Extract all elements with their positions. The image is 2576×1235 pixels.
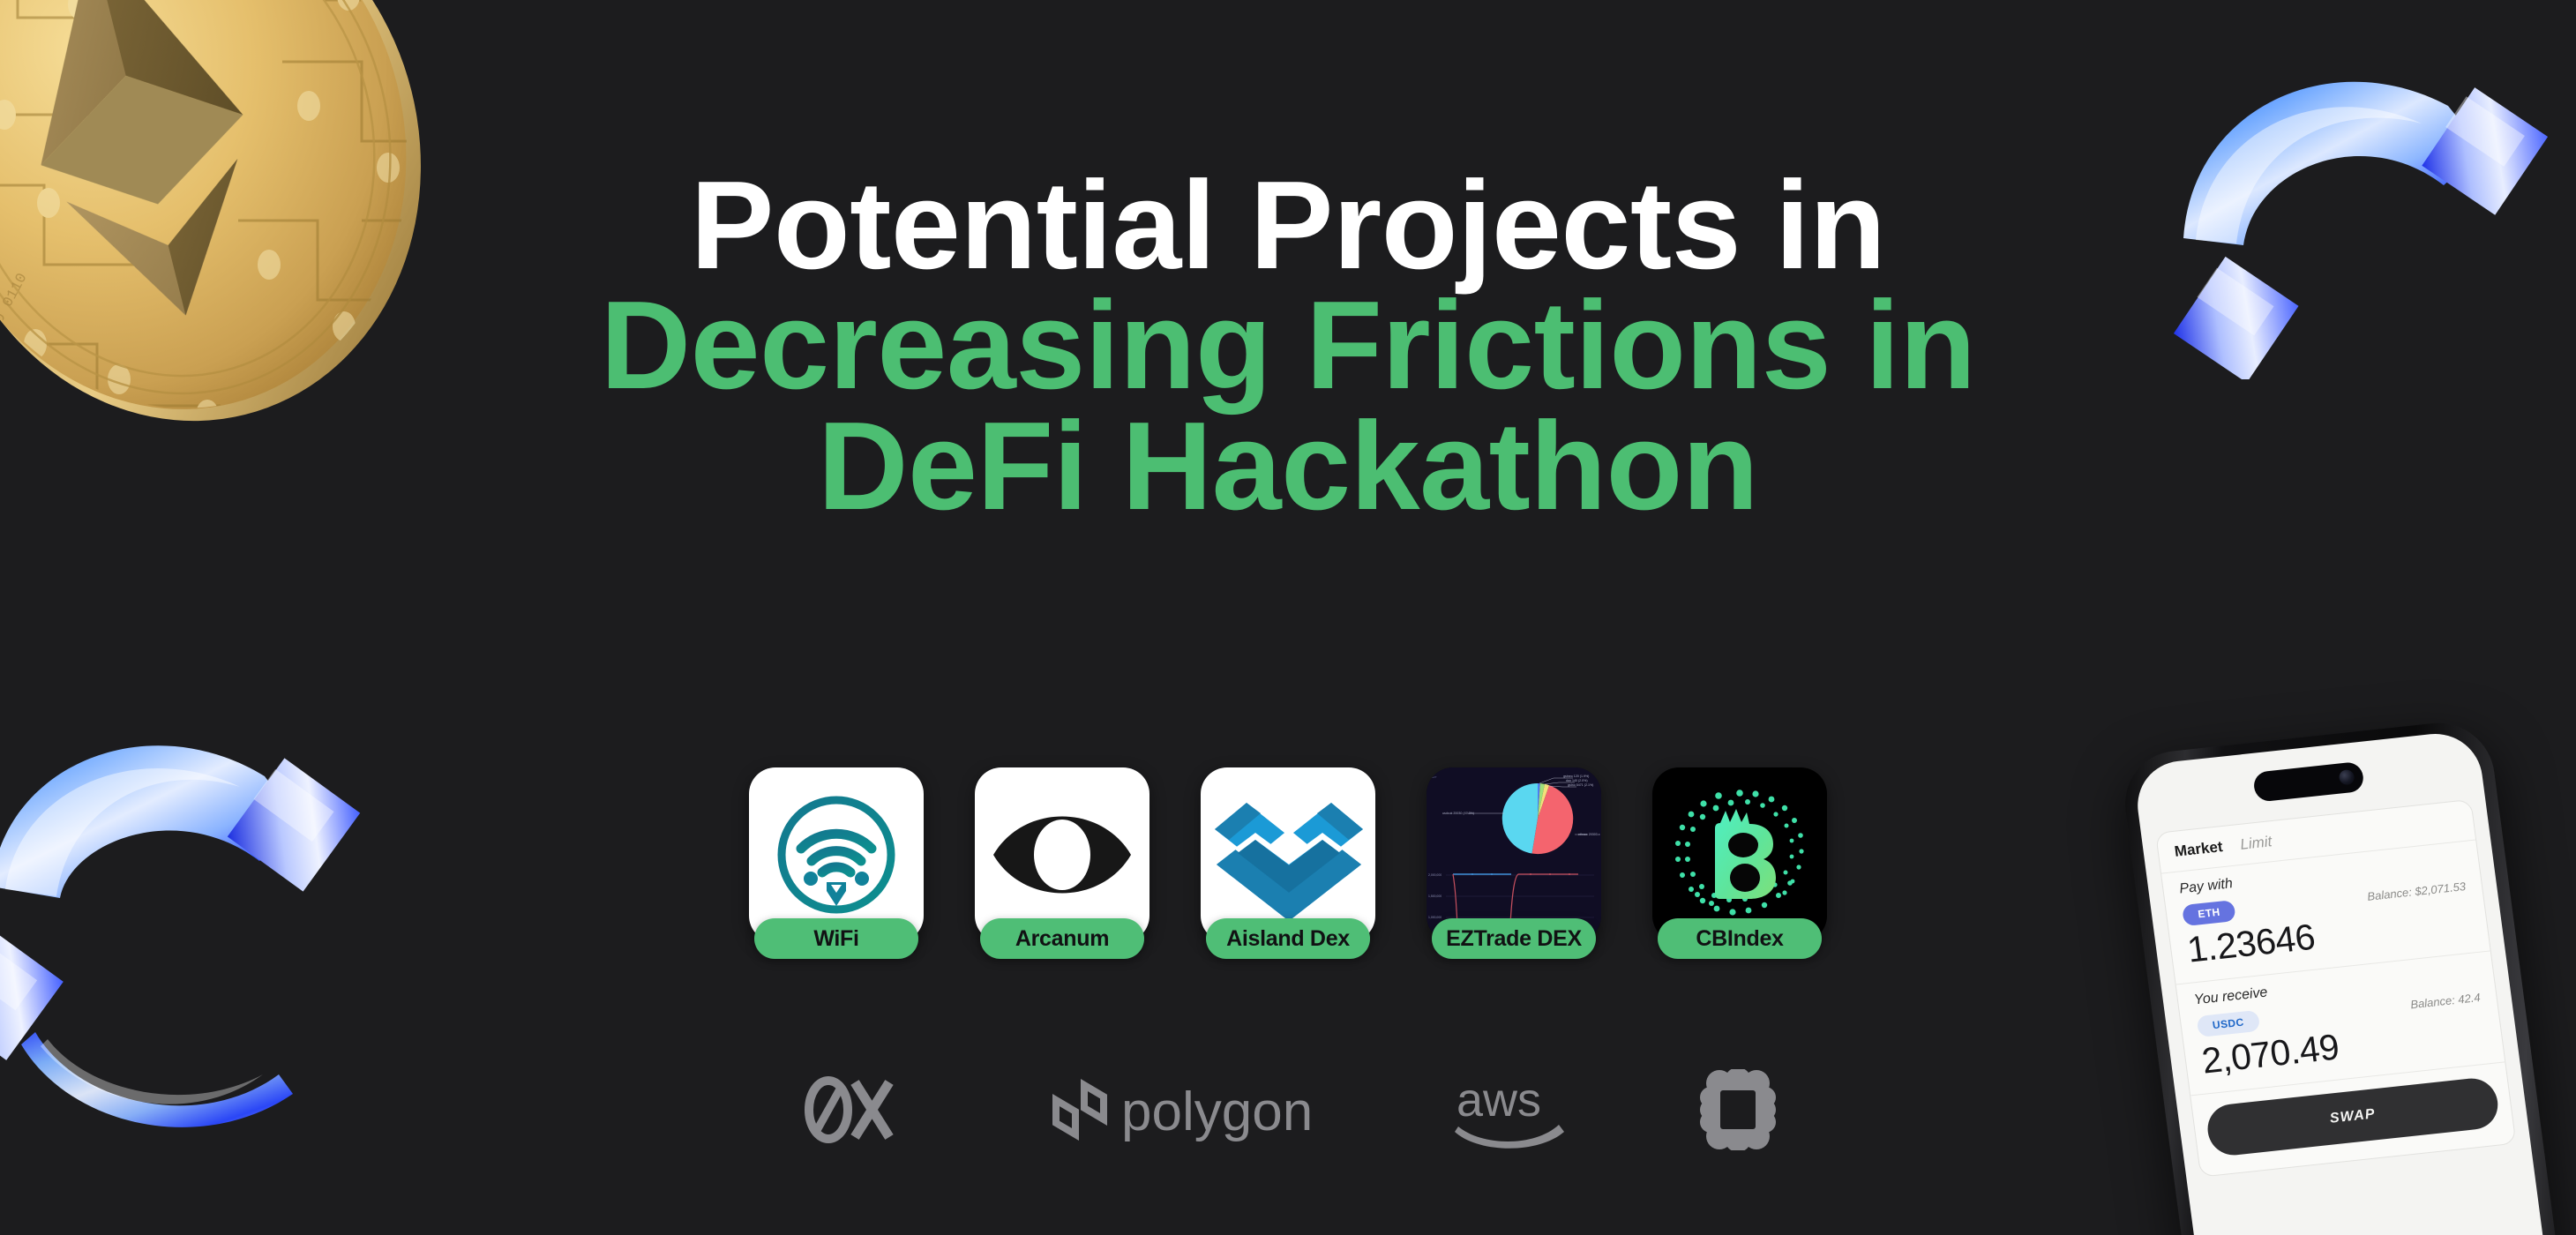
poster-stage: 01011010 0110 10 0110 1001 01101001 011 (0, 0, 2576, 1235)
svg-text:EZT: EZT (1432, 775, 1437, 779)
project-card-list: WiFi Arcanum (0, 767, 2576, 959)
sponsor-logo-polygon: polygon (1030, 1067, 1321, 1152)
project-label-pill: Aisland Dex (1206, 918, 1370, 959)
svg-text:1,000,000: 1,000,000 (1428, 916, 1442, 919)
b-monster-dotted-circle-icon (1660, 775, 1819, 934)
project-tile (749, 767, 924, 942)
project-label-pill: WiFi (754, 918, 918, 959)
aws-logo: aws (1453, 1070, 1568, 1149)
dashboard-pie-chart-icon: gstneo 120 (1.9%) dao 140 (2.0%) gstno 5… (1427, 767, 1601, 942)
zerox-logo (800, 1072, 897, 1148)
project-label: CBIndex (1696, 926, 1783, 952)
you-receive-token-chip[interactable]: USDC (2197, 1010, 2260, 1037)
polygon-logo: polygon (1030, 1070, 1321, 1149)
project-label-pill: CBIndex (1658, 918, 1822, 959)
eye-icon (988, 781, 1136, 929)
project-label: Aisland Dex (1226, 926, 1350, 952)
sponsor-logo-aws: aws (1453, 1067, 1568, 1152)
project-label: WiFi (813, 926, 858, 952)
project-card-aisland-dex[interactable]: Aisland Dex (1201, 767, 1375, 959)
sponsor-logo-row: polygon aws (0, 1067, 2576, 1152)
svg-text:usdcuk 20030 (47.3%): usdcuk 20030 (47.3%) (1442, 812, 1474, 815)
sponsor-logo-chip (1700, 1067, 1776, 1152)
project-label-pill: EZTrade DEX (1432, 918, 1596, 959)
project-card-eztrade-dex[interactable]: gstneo 120 (1.9%) dao 140 (2.0%) gstno 5… (1427, 767, 1601, 959)
chip-square-logo (1700, 1069, 1776, 1150)
project-card-cbindex[interactable]: CBIndex (1652, 767, 1827, 959)
you-receive-label: You receive (2193, 962, 2478, 1008)
wifi-circle-icon (761, 780, 911, 930)
svg-text:ethraw 20303.x: ethraw 20303.x (1578, 833, 1600, 836)
you-receive-balance: Balance: 42.4 (2409, 990, 2481, 1010)
project-tile (975, 767, 1149, 942)
svg-text:dao 140 (2.0%): dao 140 (2.0%) (1566, 779, 1588, 782)
project-card-wifi[interactable]: WiFi (749, 767, 924, 959)
svg-text:polygon: polygon (1121, 1082, 1313, 1142)
project-label-pill: Arcanum (980, 918, 1144, 959)
svg-text:gstneo 120 (1.9%): gstneo 120 (1.9%) (1563, 775, 1589, 778)
svg-text:2,000,000: 2,000,000 (1428, 873, 1442, 877)
project-tile (1652, 767, 1827, 942)
headline-line-1: Potential Projects in (0, 166, 2576, 286)
project-card-arcanum[interactable]: Arcanum (975, 767, 1149, 959)
headline-line-3: DeFi Hackathon (0, 407, 2576, 527)
project-label: Arcanum (1015, 926, 1109, 952)
project-label: EZTrade DEX (1446, 926, 1582, 952)
blue-chevron-diamond-icon (1206, 773, 1370, 937)
project-tile: gstneo 120 (1.9%) dao 140 (2.0%) gstno 5… (1427, 767, 1601, 942)
sponsor-logo-0x (800, 1067, 897, 1152)
svg-text:aws: aws (1456, 1074, 1541, 1126)
svg-text:10 0110 1001: 10 0110 1001 (388, 3, 462, 101)
svg-text:gstno 5471 (2.1%): gstno 5471 (2.1%) (1568, 783, 1593, 787)
project-tile (1201, 767, 1375, 942)
headline-line-2: Decreasing Frictions in (0, 286, 2576, 406)
svg-text:1,500,000: 1,500,000 (1428, 894, 1442, 898)
page-title: Potential Projects in Decreasing Frictio… (0, 166, 2576, 527)
